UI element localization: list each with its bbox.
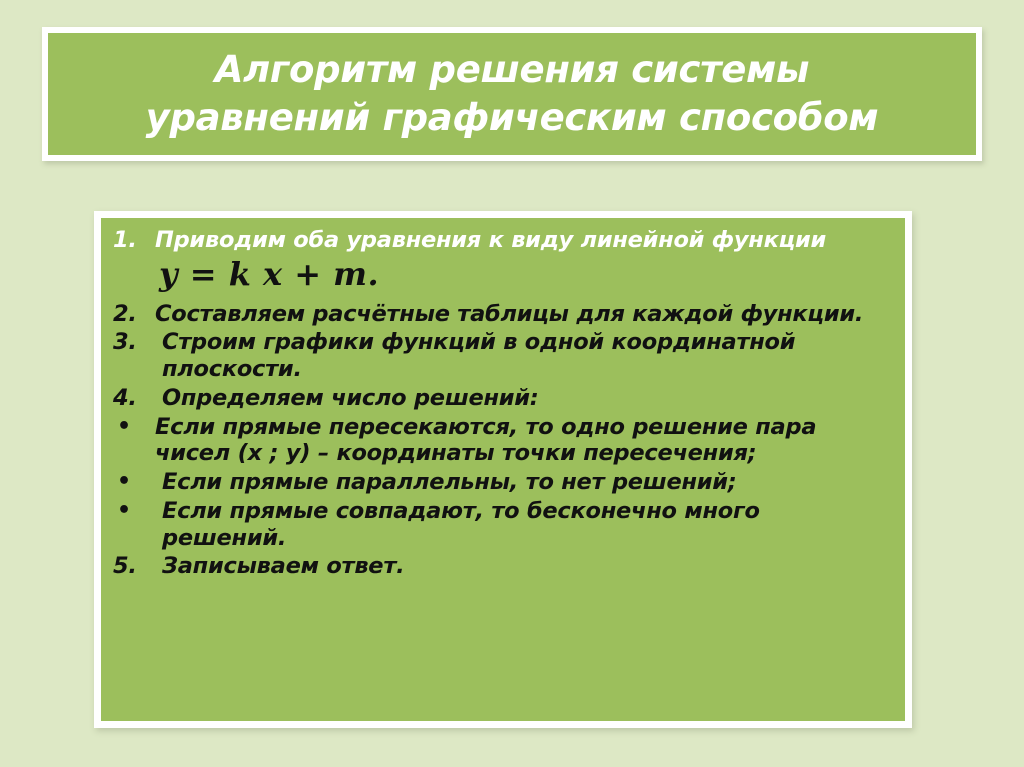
- bullet-icon: •: [109, 414, 155, 440]
- body-frame: 1. Приводим оба уравнения к виду линейно…: [94, 211, 912, 728]
- list-item: 4. Определяем число решений:: [109, 385, 891, 412]
- list-item-marker: 5.: [109, 553, 155, 580]
- list-item-label: Составляем расчётные таблицы для каждой …: [155, 301, 891, 328]
- list-item-label: Если прямые пересекаются, то одно решени…: [155, 414, 891, 468]
- list-item: • Если прямые пересекаются, то одно реше…: [109, 414, 891, 468]
- list-item-label: Определяем число решений:: [155, 385, 891, 412]
- bullet-icon: •: [109, 469, 155, 495]
- title-line-1: Алгоритм решения системы: [66, 46, 958, 94]
- algorithm-steps-list: 1. Приводим оба уравнения к виду линейно…: [101, 218, 905, 721]
- list-item-label: Если прямые совпадают, то бесконечно мно…: [155, 498, 891, 552]
- title-frame: Алгоритм решения системы уравнений графи…: [42, 27, 982, 161]
- slide-canvas: Алгоритм решения системы уравнений графи…: [0, 0, 1024, 767]
- linear-function-formula: y = k x + m.: [109, 256, 891, 294]
- list-item: • Если прямые параллельны, то нет решени…: [109, 469, 891, 496]
- list-item-marker: 2.: [109, 301, 155, 328]
- list-item: 3. Строим графики функций в одной коорди…: [109, 329, 891, 383]
- title-line-2: уравнений графическим способом: [66, 94, 958, 142]
- list-item: 1. Приводим оба уравнения к виду линейно…: [109, 227, 891, 254]
- page-title: Алгоритм решения системы уравнений графи…: [48, 46, 976, 142]
- list-item-label: Приводим оба уравнения к виду линейной ф…: [155, 227, 891, 254]
- bullet-icon: •: [109, 498, 155, 524]
- list-item-marker: 1.: [109, 227, 155, 254]
- list-item-marker: 3.: [109, 329, 155, 356]
- list-item: • Если прямые совпадают, то бесконечно м…: [109, 498, 891, 552]
- list-item: 5. Записываем ответ.: [109, 553, 891, 580]
- list-item-label: Строим графики функций в одной координат…: [155, 329, 891, 383]
- list-item-marker: 4.: [109, 385, 155, 412]
- list-item: 2. Составляем расчётные таблицы для кажд…: [109, 301, 891, 328]
- list-item-label: Записываем ответ.: [155, 553, 891, 580]
- list-item-label: Если прямые параллельны, то нет решений;: [155, 469, 891, 496]
- title-box: Алгоритм решения системы уравнений графи…: [48, 33, 976, 155]
